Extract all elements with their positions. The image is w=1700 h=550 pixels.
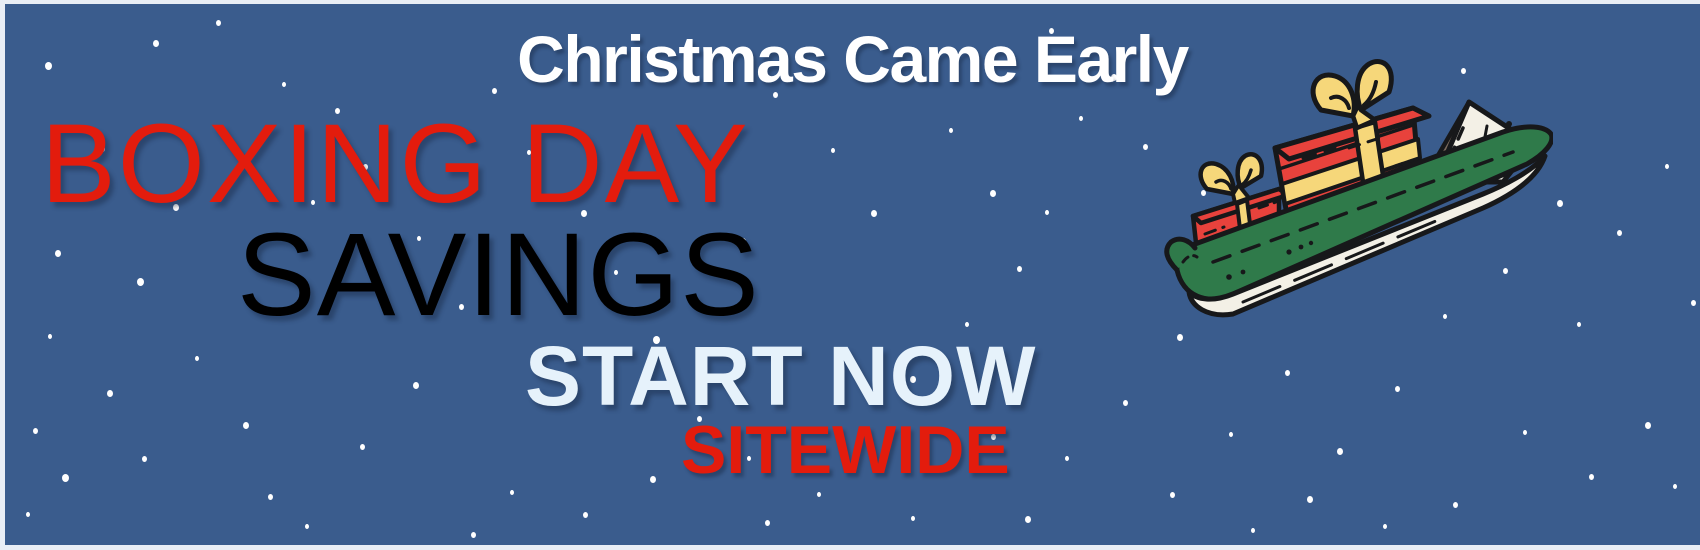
- snow-flake: [413, 382, 419, 389]
- snow-flake: [107, 390, 113, 397]
- snow-flake: [1045, 210, 1049, 215]
- snow-flake: [1025, 516, 1031, 523]
- snow-flake: [583, 512, 588, 518]
- snow-flake: [510, 490, 514, 495]
- promo-title-line-1: BOXING DAY: [41, 108, 750, 220]
- snow-flake: [216, 20, 221, 26]
- snow-flake: [949, 128, 953, 133]
- snow-flake: [1589, 474, 1594, 480]
- promo-title-line-2: SAVINGS: [237, 216, 760, 334]
- snow-flake: [360, 444, 365, 450]
- snow-flake: [747, 456, 751, 461]
- snow-flake: [697, 416, 702, 422]
- snow-flake: [100, 146, 105, 152]
- snow-flake: [1017, 266, 1022, 272]
- snow-flake: [1645, 422, 1651, 429]
- snow-flake: [45, 62, 52, 70]
- snow-flake: [459, 304, 464, 310]
- snow-flake: [527, 150, 531, 155]
- snow-flake: [153, 40, 159, 47]
- snow-flake: [581, 210, 587, 217]
- snow-flake: [1665, 164, 1669, 169]
- snow-flake: [55, 250, 61, 257]
- snow-flake: [765, 520, 770, 526]
- snow-flake: [1453, 502, 1458, 508]
- snow-flake: [142, 456, 147, 462]
- snow-flake: [865, 434, 870, 440]
- snow-flake: [417, 236, 421, 241]
- snow-flake: [1229, 432, 1233, 437]
- snow-flake: [1557, 200, 1563, 207]
- snow-flake: [653, 336, 660, 344]
- snow-flake: [1049, 28, 1054, 34]
- snow-flake: [817, 492, 821, 497]
- snow-flake: [492, 88, 497, 94]
- snow-flake: [48, 334, 52, 339]
- snow-flake: [709, 162, 713, 167]
- snow-flake: [335, 108, 340, 114]
- christmas-gift-boat-icon: [1083, 56, 1553, 318]
- snow-flake: [991, 434, 996, 440]
- snow-flake: [243, 422, 249, 429]
- snow-flake: [1251, 528, 1255, 533]
- snow-flake: [740, 238, 746, 245]
- snow-flake: [173, 204, 179, 211]
- snow-flake: [773, 92, 778, 98]
- snow-flake: [1395, 386, 1400, 392]
- snow-flake: [1617, 230, 1622, 236]
- snow-flake: [910, 376, 916, 383]
- snow-flake: [1170, 492, 1175, 498]
- snow-flake: [871, 210, 877, 217]
- promo-banner: Christmas Came Early BOXING DAY SAVINGS …: [0, 0, 1700, 550]
- snow-flake: [471, 532, 476, 538]
- snow-flake: [1673, 484, 1677, 489]
- snow-flake: [1523, 430, 1527, 435]
- snow-flake: [1123, 400, 1128, 406]
- snow-flake: [137, 278, 144, 286]
- promo-scope-text: SITEWIDE: [681, 416, 1010, 484]
- snow-flake: [965, 322, 969, 327]
- snow-flake: [26, 512, 30, 517]
- snow-flake: [282, 82, 286, 87]
- snow-flake: [33, 428, 38, 434]
- snow-flake: [1177, 334, 1183, 341]
- snow-flake: [195, 356, 199, 361]
- snow-flake: [1691, 300, 1696, 306]
- snow-flake: [831, 148, 835, 153]
- cta-text[interactable]: START NOW: [525, 334, 1036, 418]
- snow-flake: [1065, 456, 1069, 461]
- snow-flake: [895, 70, 900, 76]
- snow-flake: [1285, 370, 1290, 376]
- snow-flake: [1337, 448, 1343, 455]
- snow-flake: [614, 270, 618, 275]
- snow-flake: [363, 164, 368, 170]
- snow-flake: [62, 474, 69, 482]
- snow-flake: [1577, 322, 1581, 327]
- snow-flake: [650, 476, 656, 483]
- snow-flake: [305, 524, 309, 529]
- snow-flake: [311, 200, 315, 205]
- snow-flake: [268, 494, 273, 500]
- snow-flake: [990, 190, 996, 197]
- snow-flake: [1383, 524, 1387, 529]
- snow-flake: [911, 516, 915, 521]
- snow-flake: [1307, 496, 1313, 503]
